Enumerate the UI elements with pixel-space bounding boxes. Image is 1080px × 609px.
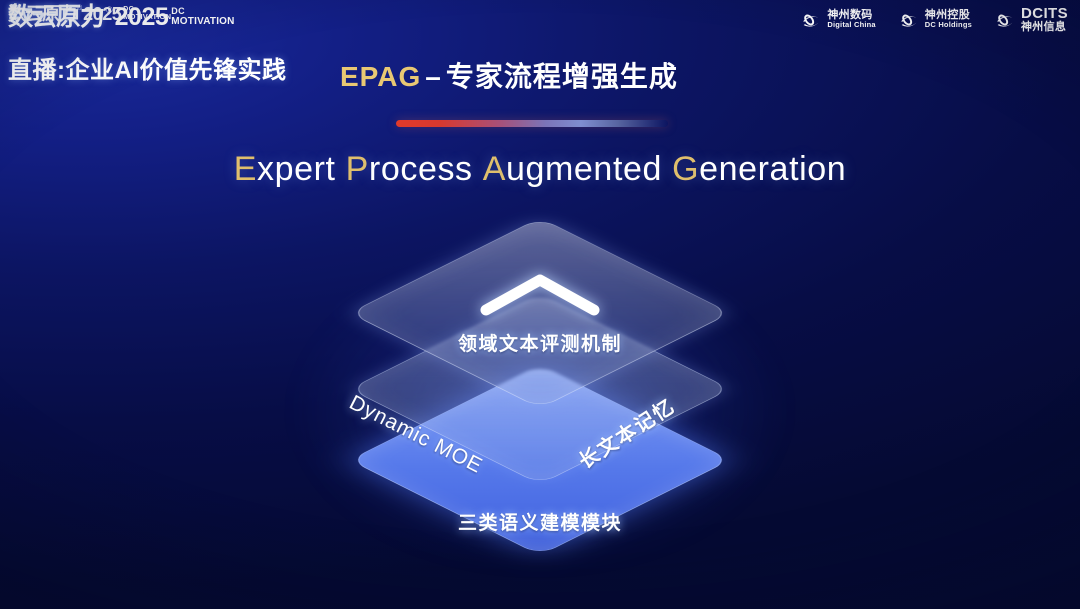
footer-dc-motivation: DC MOTIVATION	[123, 6, 171, 21]
footer-brand-name-cn: 数云原力	[8, 4, 76, 24]
footer-brand-year: 2025	[83, 4, 121, 24]
slide-canvas: 数云原力 ® 2025 DC MOTIVATION 直播:企业AI价值先锋实践 …	[0, 0, 1080, 609]
footer-brand-watermark: 数云原力 ® 2025 DC MOTIVATION	[8, 4, 1068, 603]
footer-motivation-text: MOTIVATION	[123, 13, 171, 21]
footer-registered-mark: ®	[77, 4, 82, 13]
